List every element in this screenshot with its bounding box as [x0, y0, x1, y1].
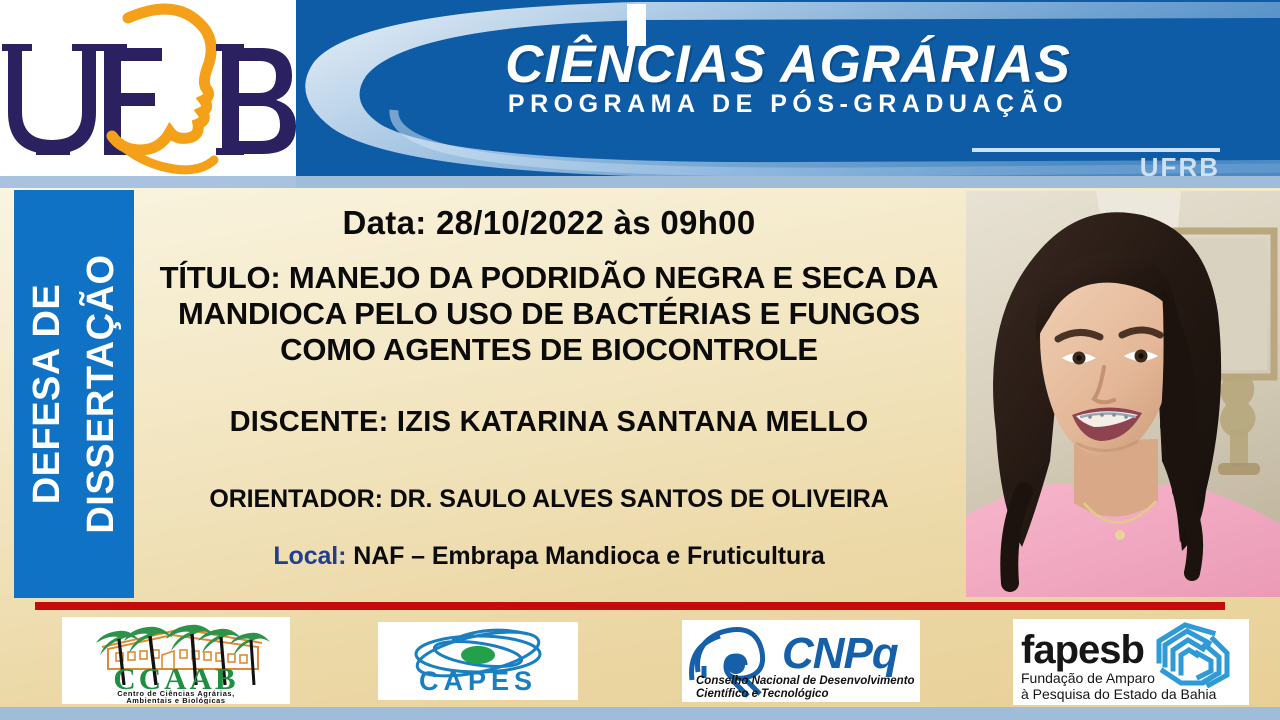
cnpq-logo-graphic: CNPq Conselho Nacional de Desenvolviment… — [682, 620, 920, 702]
fapesb-acronym: fapesb — [1021, 628, 1144, 672]
capes-logo-graphic: CAPES — [378, 622, 578, 700]
program-title: CIÊNCIAS AGRÁRIAS — [296, 36, 1280, 94]
cnpq-caption-2: Científico e Tecnológico — [696, 688, 828, 700]
header-bottom-strip — [296, 176, 1280, 188]
student-photo — [966, 191, 1280, 597]
fapesb-logo: fapesb Fundação de Amparo à Pesquisa do — [1013, 619, 1249, 705]
thesis-title-line-2: MANDIOCA PELO USO DE BACTÉRIAS E FUNGOS — [136, 296, 962, 332]
defense-type-tab: DEFESA DE DISSERTAÇÃO — [14, 190, 134, 598]
capes-acronym: CAPES — [419, 666, 537, 696]
fapesb-caption-2: à Pesquisa do Estado da Bahia — [1021, 686, 1217, 702]
ccaab-caption-2: Ambientais e Biológicas — [126, 696, 225, 704]
cnpq-caption-1: Conselho Nacional de Desenvolvimento — [696, 675, 915, 687]
poster-header: CIÊNCIAS AGRÁRIAS PROGRAMA DE PÓS-GRADUA… — [0, 0, 1280, 182]
cnpq-logo: CNPq Conselho Nacional de Desenvolviment… — [682, 620, 920, 702]
location-value: NAF – Embrapa Mandioca e Fruticultura — [353, 542, 824, 570]
defense-type-line1: DEFESA DE — [26, 284, 68, 505]
capes-logo: CAPES — [378, 622, 578, 700]
student-portrait-image — [966, 191, 1280, 597]
defense-poster: CIÊNCIAS AGRÁRIAS PROGRAMA DE PÓS-GRADUA… — [0, 0, 1280, 720]
poster-content: Data: 28/10/2022 às 09h00 TÍTULO: MANEJO… — [136, 190, 962, 598]
program-subtitle: PROGRAMA DE PÓS-GRADUAÇÃO — [296, 90, 1280, 119]
fapesb-logo-graphic: fapesb Fundação de Amparo à Pesquisa do — [1013, 619, 1249, 705]
student-name: DISCENTE: IZIS KATARINA SANTANA MELLO — [136, 406, 962, 439]
bottom-strip — [0, 707, 1280, 720]
footer-divider — [35, 602, 1225, 610]
program-banner: CIÊNCIAS AGRÁRIAS PROGRAMA DE PÓS-GRADUA… — [296, 0, 1280, 182]
defense-date: Data: 28/10/2022 às 09h00 — [136, 204, 962, 242]
thesis-title: TÍTULO: MANEJO DA PODRIDÃO NEGRA E SECA … — [136, 260, 962, 368]
thesis-title-line-1: TÍTULO: MANEJO DA PODRIDÃO NEGRA E SECA … — [136, 260, 962, 296]
ccaab-logo: CCAAB Centro de Ciências Agrárias, Ambie… — [62, 617, 290, 704]
thesis-title-line-3: COMO AGENTES DE BIOCONTROLE — [136, 332, 962, 368]
ufrb-logo-box — [0, 0, 296, 176]
ccaab-logo-graphic: CCAAB Centro de Ciências Agrárias, Ambie… — [62, 617, 290, 704]
advisor-name: ORIENTADOR: DR. SAULO ALVES SANTOS DE OL… — [136, 485, 962, 514]
location-label: Local: — [273, 542, 346, 570]
defense-location: Local: NAF – Embrapa Mandioca e Fruticul… — [136, 542, 962, 571]
cnpq-acronym: CNPq — [782, 629, 899, 678]
ufrb-logo — [0, 0, 296, 176]
defense-type-label: DEFESA DE DISSERTAÇÃO — [14, 190, 134, 598]
defense-type-line2: DISSERTAÇÃO — [80, 254, 122, 533]
fapesb-caption-1: Fundação de Amparo — [1021, 670, 1155, 686]
sponsor-logos: CCAAB Centro de Ciências Agrárias, Ambie… — [0, 615, 1280, 707]
